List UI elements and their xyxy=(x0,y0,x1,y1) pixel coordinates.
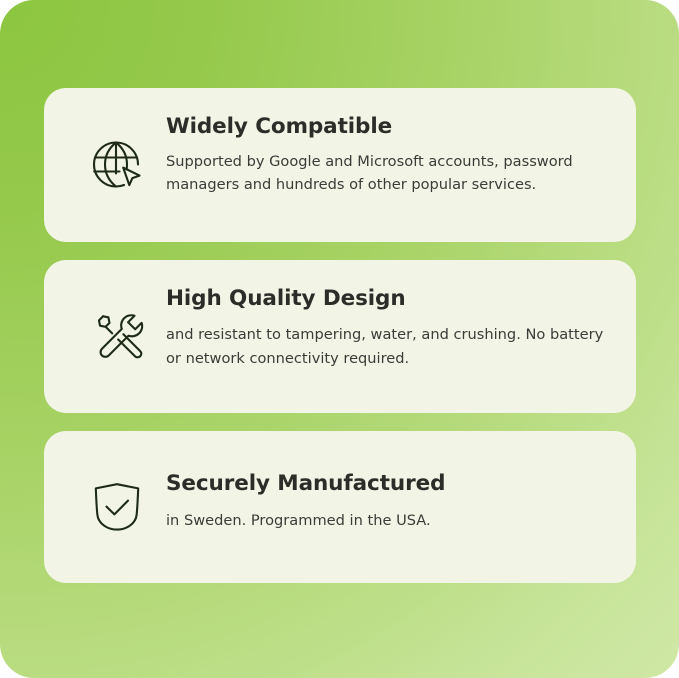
feature-card-title: Widely Compatible xyxy=(166,114,610,140)
feature-card-body: Securely Manufactured in Sweden. Program… xyxy=(166,453,610,532)
wrench-screwdriver-icon xyxy=(68,309,166,363)
feature-panel: Widely Compatible Supported by Google an… xyxy=(0,0,679,678)
feature-card-title: Securely Manufactured xyxy=(166,471,610,497)
feature-card-text: Supported by Google and Microsoft accoun… xyxy=(166,150,610,197)
feature-card-text: in Sweden. Programmed in the USA. xyxy=(166,509,610,533)
shield-check-icon xyxy=(68,480,166,534)
feature-card-text: and resistant to tampering, water, and c… xyxy=(166,323,610,370)
feature-card-body: High Quality Design and resistant to tam… xyxy=(166,282,610,371)
globe-cursor-icon xyxy=(68,138,166,192)
feature-card: High Quality Design and resistant to tam… xyxy=(44,260,636,414)
feature-card-title: High Quality Design xyxy=(166,286,610,312)
feature-card: Securely Manufactured in Sweden. Program… xyxy=(44,431,636,583)
feature-card: Widely Compatible Supported by Google an… xyxy=(44,88,636,242)
feature-card-body: Widely Compatible Supported by Google an… xyxy=(166,110,610,197)
